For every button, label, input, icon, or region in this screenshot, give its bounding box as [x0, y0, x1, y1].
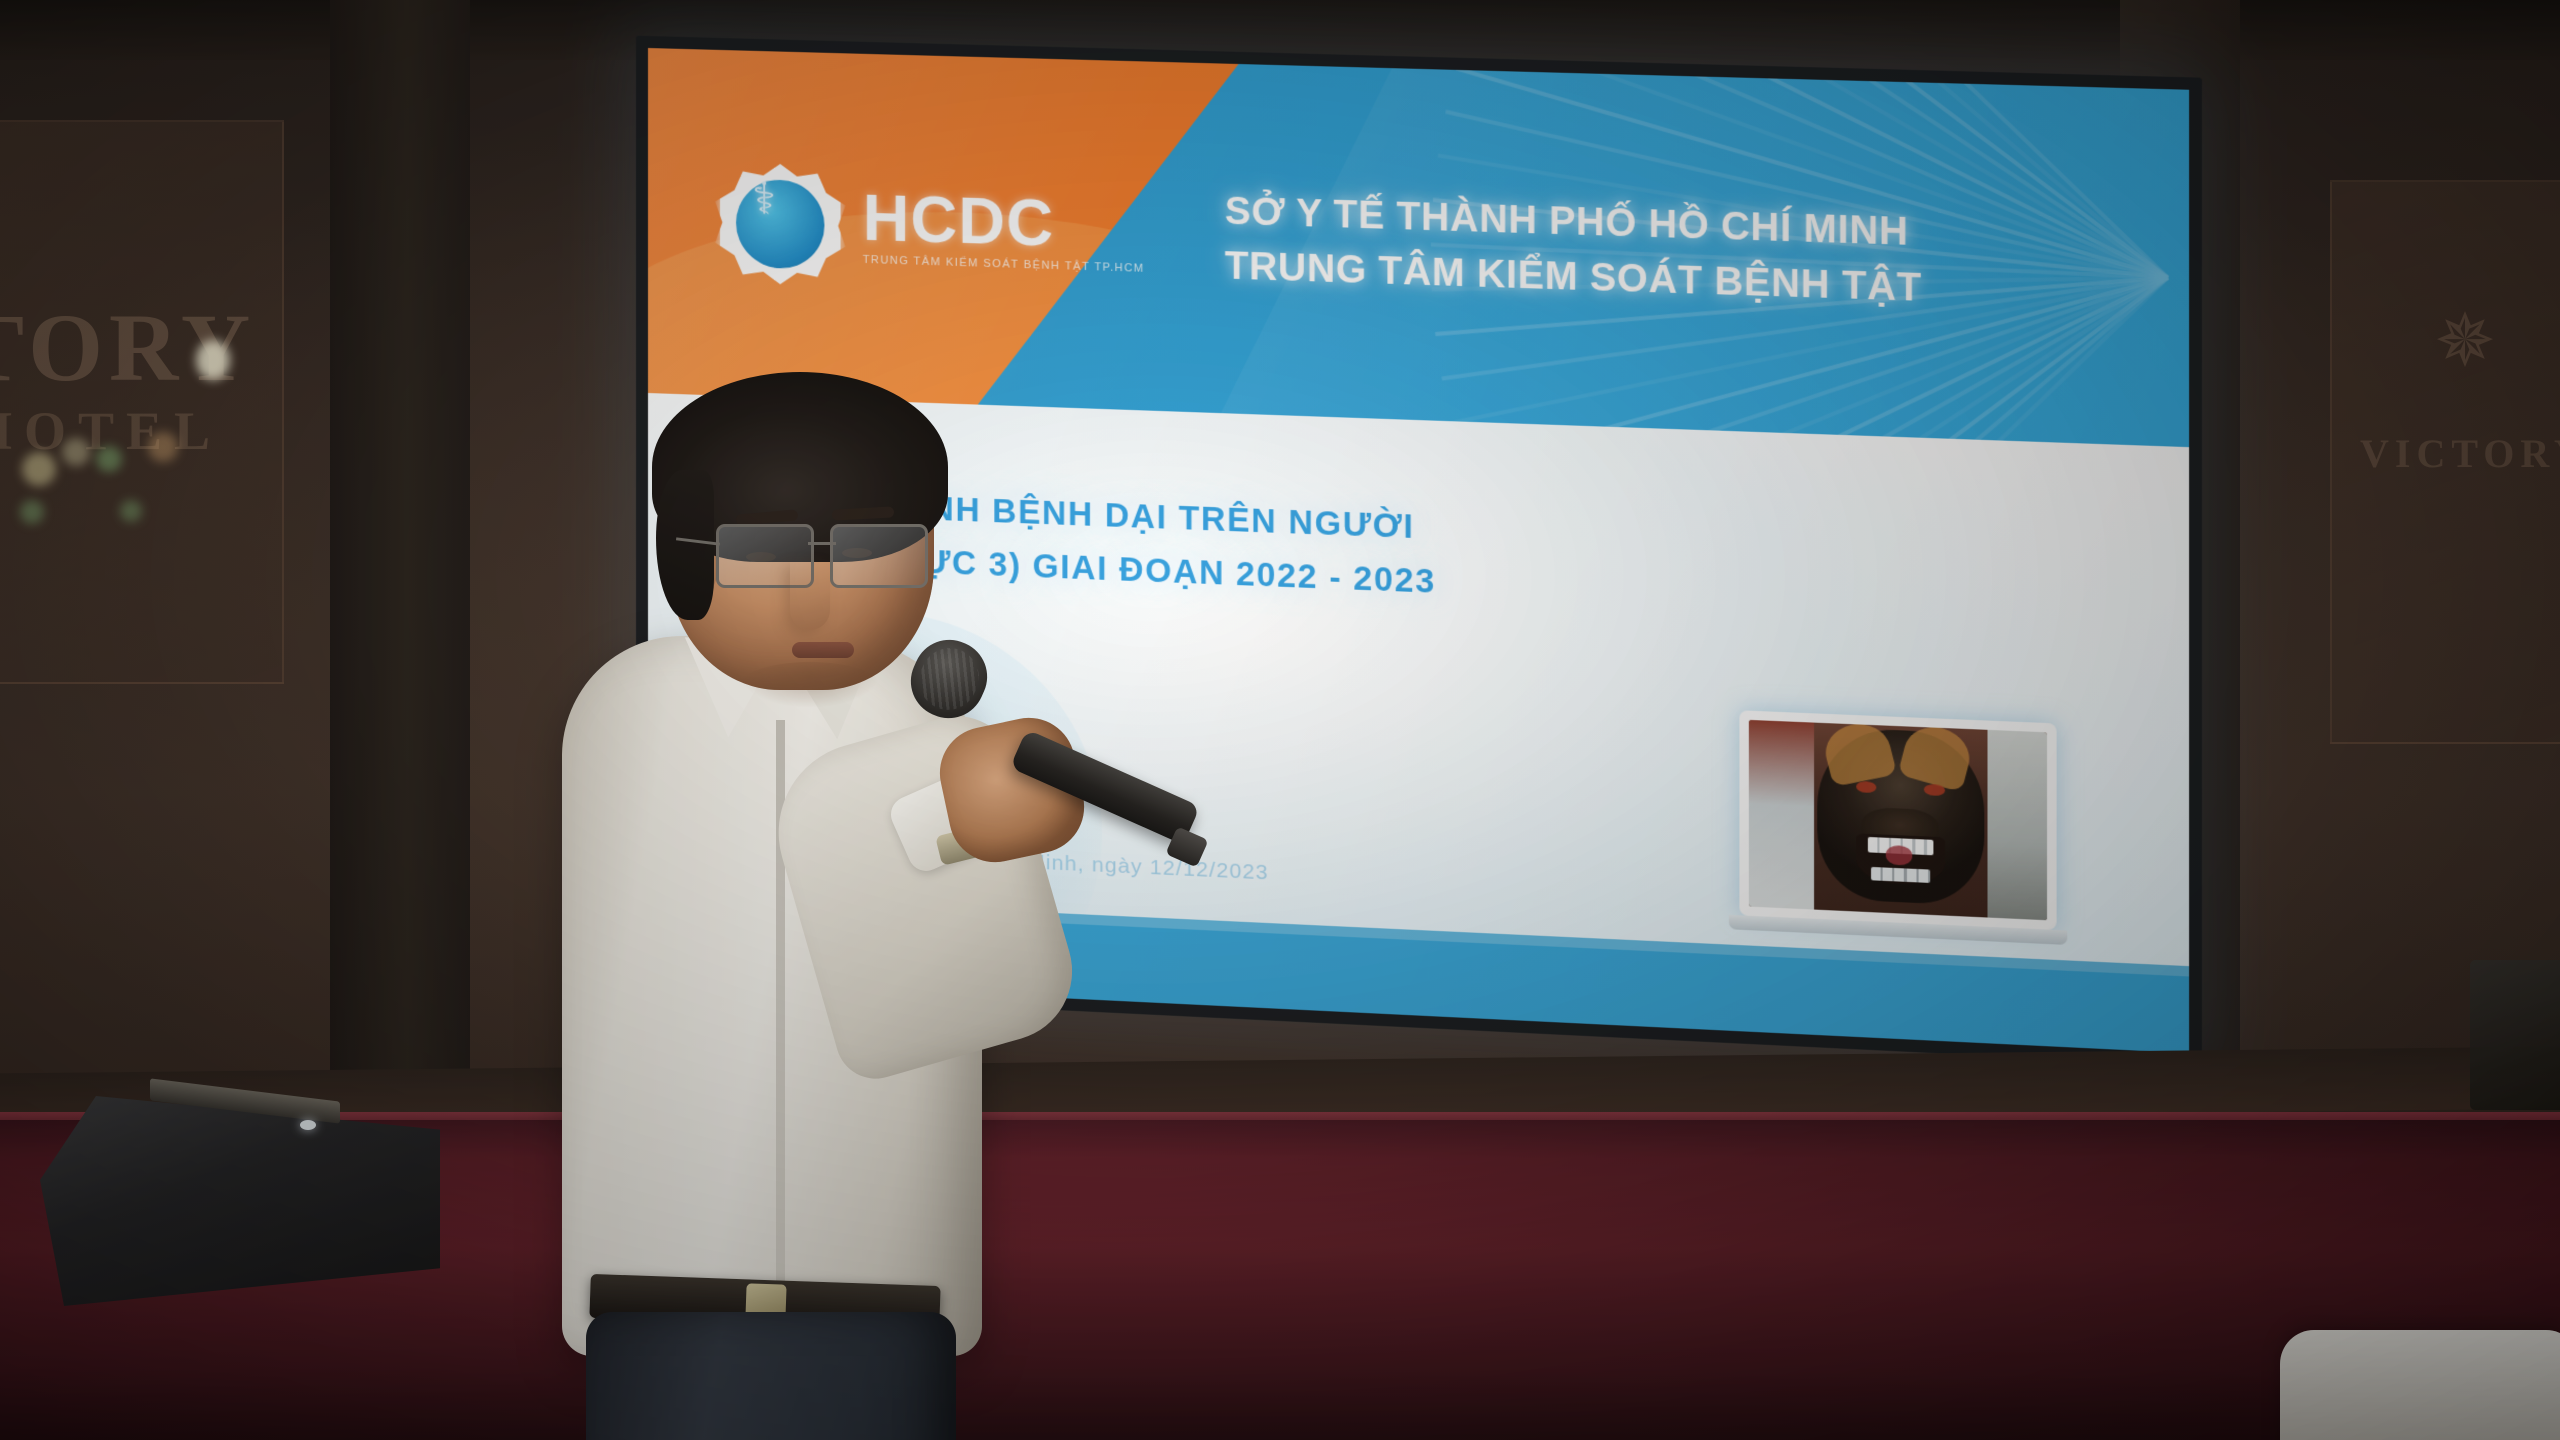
lens-right: [830, 524, 928, 588]
white-chair: [2280, 1330, 2560, 1440]
medical-cross-icon: ⚕: [720, 176, 808, 223]
logo-acronym: HCDC: [863, 187, 1145, 258]
glasses-bridge: [808, 542, 836, 545]
photo-bg-left: [1749, 720, 1814, 910]
chin-shadow: [740, 662, 880, 708]
hcdc-logo: ⚕ HCDC TRUNG TÂM KIỂM SOÁT BỆNH TẬT TP.H…: [720, 162, 1144, 296]
bokeh-light: [62, 438, 90, 466]
presenter-hair-side: [656, 470, 714, 620]
bokeh-light: [120, 500, 142, 522]
logo-text-block: HCDC TRUNG TÂM KIỂM SOÁT BỆNH TẬT TP.HCM: [863, 187, 1145, 275]
bokeh-light: [196, 340, 230, 380]
speaker-cabinet-right: [2470, 960, 2560, 1110]
wall-crest-text: VICTORY: [2360, 430, 2560, 477]
monitor-led-icon: [300, 1120, 316, 1130]
presenter-mouth: [792, 642, 854, 658]
dog-eye-left: [1856, 780, 1877, 792]
presenter-nose: [790, 560, 830, 630]
wall-column-left: [330, 0, 470, 1180]
wall-crest-icon: ✵: [2385, 300, 2545, 440]
bokeh-light: [20, 500, 44, 524]
dog-tongue: [1886, 845, 1913, 865]
laptop-photo-frame: [1739, 710, 2056, 930]
bokeh-light: [22, 452, 56, 486]
presenter: [540, 400, 1100, 1440]
laptop-screen: [1739, 710, 2056, 930]
dog-photo: [1749, 720, 2047, 920]
presenter-trousers: [586, 1312, 956, 1440]
bokeh-light: [96, 446, 122, 472]
hcdc-badge-icon: ⚕: [720, 162, 841, 286]
photo-bg-right: [1987, 730, 2047, 920]
dog-lower-teeth: [1871, 867, 1931, 883]
bokeh-light: [148, 432, 178, 462]
presentation-room-scene: TORY HOTEL ✵ VICTORY ⚕: [0, 0, 2560, 1440]
microphone-mesh: [910, 639, 988, 719]
